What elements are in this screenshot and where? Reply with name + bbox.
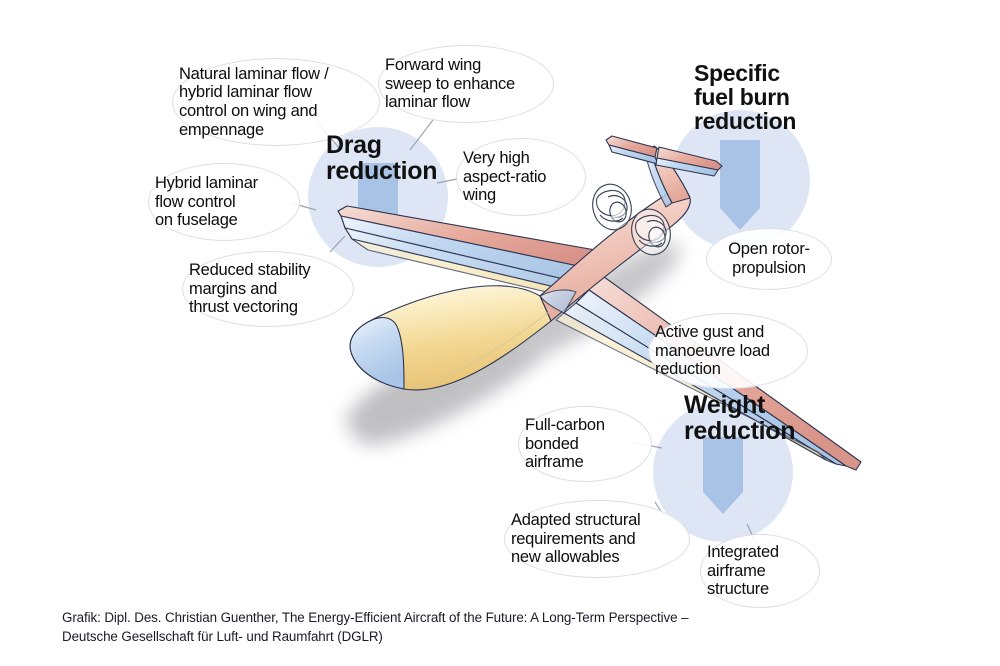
callout-text: Integrated airframe structure [701,543,819,599]
infographic-canvas: Drag reduction Specific fuel burn reduct… [0,0,1000,666]
hub-title-weight: Weight reduction [684,392,864,444]
callout-open-rotor-propulsion[interactable]: Open rotor- propulsion [706,228,832,290]
hub-title-fuel: Specific fuel burn reduction [694,62,874,134]
callout-hybrid-laminar-flow-control-fuselage[interactable]: Hybrid laminar flow control on fuselage [148,163,300,241]
radome-nose [350,318,404,389]
callout-text: Natural laminar flow / hybrid laminar fl… [173,65,379,140]
hub-title-drag: Drag reduction [326,132,486,184]
callout-forward-wing-sweep[interactable]: Forward wing sweep to enhance laminar fl… [378,45,554,123]
callout-text: Adapted structural requirements and new … [505,511,689,567]
callout-text: Reduced stability margins and thrust vec… [183,261,353,317]
callout-adapted-structural-requirements[interactable]: Adapted structural requirements and new … [504,500,690,578]
callout-text: Active gust and manoeuvre load reduction [649,323,807,379]
callout-active-gust-load-reduction[interactable]: Active gust and manoeuvre load reduction [648,313,808,389]
callout-text: Forward wing sweep to enhance laminar fl… [379,56,553,112]
callout-integrated-airframe-structure[interactable]: Integrated airframe structure [700,534,820,608]
callout-text: Hybrid laminar flow control on fuselage [149,174,299,230]
figure-caption: Grafik: Dipl. Des. Christian Guenther, T… [62,608,942,647]
callout-text: Open rotor- propulsion [707,240,831,277]
callout-reduced-stability-margins[interactable]: Reduced stability margins and thrust vec… [182,251,354,327]
callout-full-carbon-bonded-airframe[interactable]: Full-carbon bonded airframe [518,406,652,482]
callout-text: Full-carbon bonded airframe [519,416,651,472]
